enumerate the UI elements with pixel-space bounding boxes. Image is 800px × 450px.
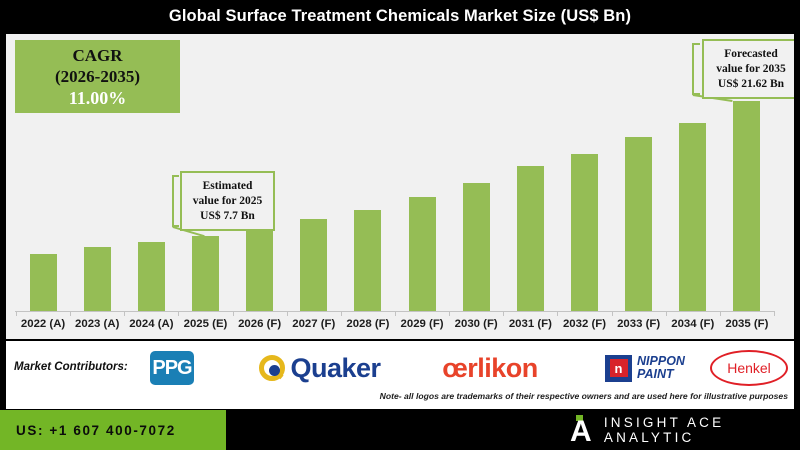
x-axis-label-0: 2022 (A) — [16, 318, 70, 330]
page-title: Global Surface Treatment Chemicals Marke… — [169, 7, 631, 26]
x-axis-tick-3 — [178, 311, 179, 316]
x-axis-tick-6 — [341, 311, 342, 316]
market-contributors-strip: Market Contributors: PPG Quaker œrlikon … — [6, 341, 794, 409]
quaker-wordmark: Quaker — [290, 353, 380, 384]
bar-2027f[interactable] — [300, 219, 327, 311]
infographic-root: Global Surface Treatment Chemicals Marke… — [0, 0, 800, 450]
estimated-callout-line1: Estimated — [203, 179, 253, 194]
logo-a-glyph: A — [570, 419, 592, 445]
bar-2031f[interactable] — [517, 166, 544, 311]
nippon-paint-mark-icon: n — [605, 355, 632, 382]
x-axis-label-2: 2024 (A) — [124, 318, 178, 330]
bar-2035f[interactable] — [733, 101, 760, 311]
x-axis-tick-5 — [287, 311, 288, 316]
bar-2023a[interactable] — [84, 247, 111, 311]
x-axis-label-8: 2030 (F) — [449, 318, 503, 330]
x-axis-label-10: 2032 (F) — [557, 318, 611, 330]
estimated-value-callout: Estimated value for 2025 US$ 7.7 Bn — [180, 171, 275, 231]
bar-2022a[interactable] — [30, 254, 57, 311]
x-axis-tick-2 — [124, 311, 125, 316]
x-axis-tick-12 — [666, 311, 667, 316]
x-axis-label-5: 2027 (F) — [287, 318, 341, 330]
x-axis-label-7: 2029 (F) — [395, 318, 449, 330]
bar-2028f[interactable] — [354, 210, 381, 311]
x-axis-tick-7 — [395, 311, 396, 316]
cagr-badge: CAGR (2026-2035) 11.00% — [15, 40, 180, 113]
bar-2026f[interactable] — [246, 228, 273, 311]
x-axis-tick-11 — [612, 311, 613, 316]
bar-2033f[interactable] — [625, 137, 652, 311]
logo-oerlikon: œrlikon — [420, 349, 560, 387]
cagr-label: CAGR — [72, 45, 122, 66]
brand-lockup: A INSIGHT ACE ANALYTIC — [570, 410, 800, 450]
logo-quaker: Quaker — [246, 349, 394, 387]
x-axis-tick-10 — [557, 311, 558, 316]
bar-2029f[interactable] — [409, 197, 436, 311]
bar-2030f[interactable] — [463, 183, 490, 311]
brand-name: INSIGHT ACE ANALYTIC — [604, 415, 800, 445]
chart-panel: 2022 (A)2023 (A)2024 (A)2025 (E)2026 (F)… — [6, 34, 794, 339]
cagr-period: (2026-2035) — [55, 66, 140, 87]
x-axis-label-3: 2025 (E) — [178, 318, 232, 330]
logo-henkel: Henkel — [706, 349, 792, 387]
cagr-value: 11.00% — [69, 87, 127, 109]
estimated-callout-line3: US$ 7.7 Bn — [200, 209, 255, 224]
x-axis-label-12: 2034 (F) — [666, 318, 720, 330]
footer-contact-block: US: +1 607 400-7072 — [0, 410, 226, 450]
x-axis-tick-1 — [70, 311, 71, 316]
bar-2032f[interactable] — [571, 154, 598, 311]
bar-2025e[interactable] — [192, 236, 219, 311]
forecast-callout-line2: value for 2035 — [716, 62, 785, 77]
estimated-callout-bracket — [172, 175, 179, 227]
plot-area: 2022 (A)2023 (A)2024 (A)2025 (E)2026 (F)… — [6, 34, 794, 339]
x-axis-tick-9 — [503, 311, 504, 316]
x-axis-label-6: 2028 (F) — [341, 318, 395, 330]
x-axis-tick-0 — [16, 311, 17, 316]
x-axis-label-4: 2026 (F) — [233, 318, 287, 330]
estimated-callout-line2: value for 2025 — [193, 194, 262, 209]
henkel-wordmark: Henkel — [710, 350, 788, 386]
trademark-note: Note- all logos are trademarks of their … — [380, 391, 788, 401]
x-axis-tick-13 — [720, 311, 721, 316]
forecast-value-callout: Forecasted value for 2035 US$ 21.62 Bn — [702, 39, 794, 99]
x-axis-label-11: 2033 (F) — [612, 318, 666, 330]
quaker-q-icon — [259, 355, 285, 381]
x-axis-tick-14 — [774, 311, 775, 316]
bar-2024a[interactable] — [138, 242, 165, 311]
nippon-wordmark-line2: PAINT — [637, 368, 685, 381]
x-axis-label-9: 2031 (F) — [503, 318, 557, 330]
header-bar: Global Surface Treatment Chemicals Marke… — [0, 0, 800, 33]
insight-ace-a-logo-icon: A — [570, 415, 590, 445]
forecast-callout-bracket — [692, 43, 700, 95]
x-axis-label-1: 2023 (A) — [70, 318, 124, 330]
nippon-paint-n-glyph: n — [610, 359, 628, 377]
bar-2034f[interactable] — [679, 123, 706, 311]
logo-nippon-paint: n NIPPON PAINT — [580, 349, 710, 387]
oerlikon-wordmark: œrlikon — [442, 353, 538, 384]
footer-bar: US: +1 607 400-7072 A INSIGHT ACE ANALYT… — [0, 410, 800, 450]
forecast-callout-line3: US$ 21.62 Bn — [718, 77, 784, 92]
x-axis-tick-4 — [233, 311, 234, 316]
forecast-callout-line1: Forecasted — [724, 47, 777, 62]
footer-phone-number[interactable]: US: +1 607 400-7072 — [16, 423, 176, 438]
x-axis-label-13: 2035 (F) — [720, 318, 774, 330]
ppg-wordmark: PPG — [150, 351, 194, 385]
market-contributors-label: Market Contributors: — [14, 361, 128, 373]
x-axis-tick-8 — [449, 311, 450, 316]
logo-ppg: PPG — [148, 349, 196, 387]
